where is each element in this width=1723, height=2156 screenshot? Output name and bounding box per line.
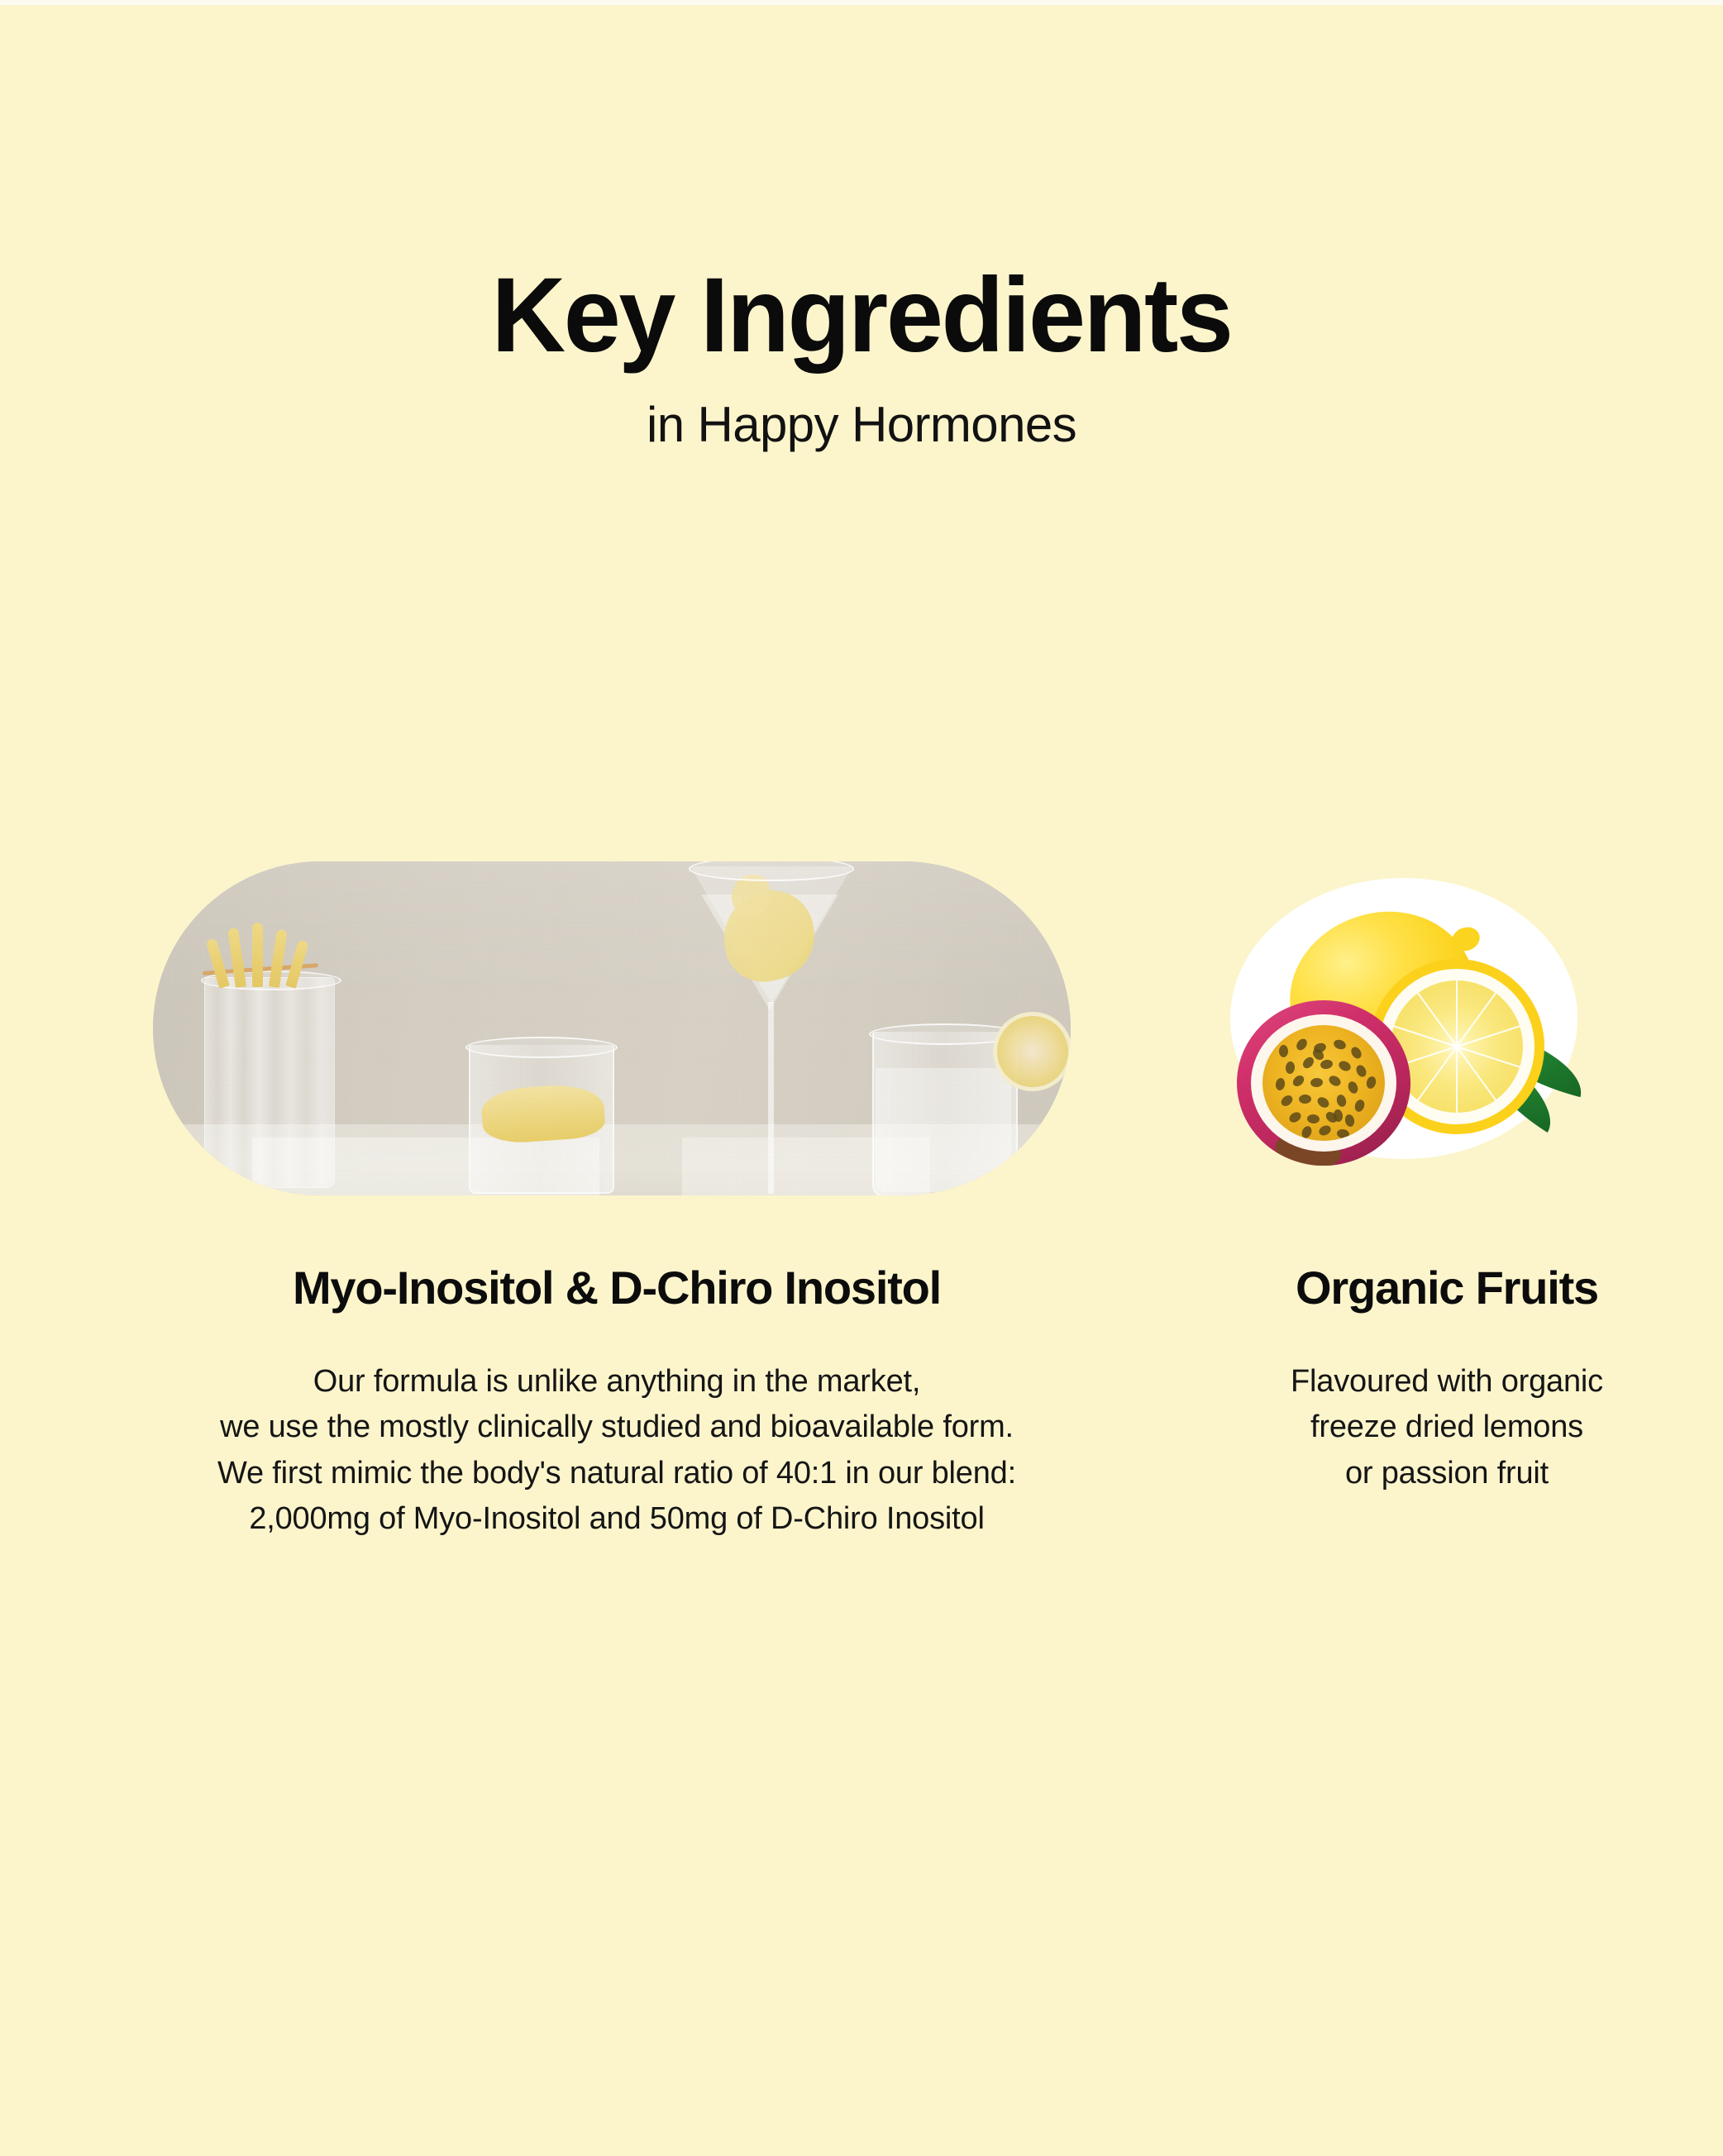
- passion-fruit-half-icon: [1237, 1000, 1410, 1166]
- top-edge-strip: [0, 0, 1723, 5]
- short-glass-rim: [465, 1037, 618, 1058]
- column-heading-inositol: Myo-Inositol & D-Chiro Inositol: [79, 1265, 1154, 1311]
- lemon-segment-divider: [1457, 1046, 1520, 1068]
- passion-fruit-seed: [1285, 1061, 1295, 1075]
- passion-fruit-seed: [1333, 1038, 1348, 1052]
- passion-fruit-seed: [1299, 1095, 1311, 1104]
- martini-glass-stem: [768, 1002, 774, 1194]
- column-body-organic-fruits: Flavoured with organic freeze dried lemo…: [1191, 1359, 1703, 1496]
- passion-fruit-seed: [1335, 1094, 1348, 1109]
- media-row: [0, 861, 1723, 1200]
- lemon-segment-divider: [1456, 1046, 1496, 1100]
- column-heading-organic-fruits: Organic Fruits: [1191, 1265, 1703, 1311]
- lemon-flesh: [1391, 980, 1523, 1113]
- lemon-segment-divider: [1456, 980, 1458, 1047]
- passion-fruit-seed: [1320, 1059, 1334, 1071]
- passion-fruit-seed: [1317, 1123, 1332, 1138]
- glassware-photo: [153, 861, 1071, 1195]
- fruit-photo: [1230, 878, 1597, 1176]
- passion-fruit-seed: [1275, 1077, 1286, 1091]
- passion-fruit-seed: [1347, 1080, 1360, 1095]
- passion-fruit-seed: [1353, 1099, 1366, 1114]
- passion-fruit-seed: [1354, 1063, 1368, 1078]
- passion-fruit-seed: [1279, 1094, 1295, 1109]
- passion-fruit-seed: [1287, 1110, 1303, 1124]
- lemon-slice-icon: [993, 1012, 1071, 1091]
- header: Key Ingredients in Happy Hormones: [0, 263, 1723, 450]
- column-inositol: Myo-Inositol & D-Chiro Inositol Our form…: [79, 1265, 1154, 1543]
- body-line: 2,000mg of Myo-Inositol and 50mg of D-Ch…: [79, 1496, 1154, 1542]
- passion-fruit-seed: [1295, 1037, 1310, 1052]
- passion-fruit-seed: [1310, 1077, 1323, 1088]
- passion-fruit-seed: [1315, 1095, 1331, 1110]
- body-line: freeze dried lemons: [1191, 1405, 1703, 1450]
- passion-fruit-seed: [1291, 1073, 1305, 1088]
- passion-fruit-seed: [1307, 1114, 1320, 1123]
- lemon-segment-divider: [1457, 1025, 1520, 1047]
- body-line: Our formula is unlike anything in the ma…: [79, 1359, 1154, 1405]
- passion-fruit-pulp: [1262, 1025, 1385, 1141]
- passion-fruit-seed: [1365, 1076, 1377, 1090]
- lemon-segment-divider: [1417, 1046, 1458, 1100]
- passion-fruit-seed: [1279, 1045, 1288, 1057]
- tall-glass-water: [876, 1068, 1011, 1192]
- body-line: we use the mostly clinically studied and…: [79, 1405, 1154, 1450]
- body-line: or passion fruit: [1191, 1451, 1703, 1496]
- passion-fruit-seed: [1337, 1059, 1352, 1072]
- passion-fruit-seed: [1327, 1074, 1343, 1088]
- page-subtitle: in Happy Hormones: [0, 400, 1723, 450]
- lemon-peel-fan: [216, 921, 315, 987]
- passion-fruit-seed: [1344, 1114, 1356, 1128]
- passion-fruit-seed: [1301, 1055, 1315, 1071]
- column-organic-fruits: Organic Fruits Flavoured with organic fr…: [1191, 1265, 1703, 1496]
- page-title: Key Ingredients: [26, 263, 1697, 369]
- passion-fruit-seed: [1349, 1045, 1363, 1061]
- ribbed-glass: [204, 977, 335, 1188]
- column-body-inositol: Our formula is unlike anything in the ma…: [79, 1359, 1154, 1543]
- lemon-segment-divider: [1456, 1047, 1458, 1113]
- body-line: We first mimic the body's natural ratio …: [79, 1451, 1154, 1496]
- body-line: Flavoured with organic: [1191, 1359, 1703, 1405]
